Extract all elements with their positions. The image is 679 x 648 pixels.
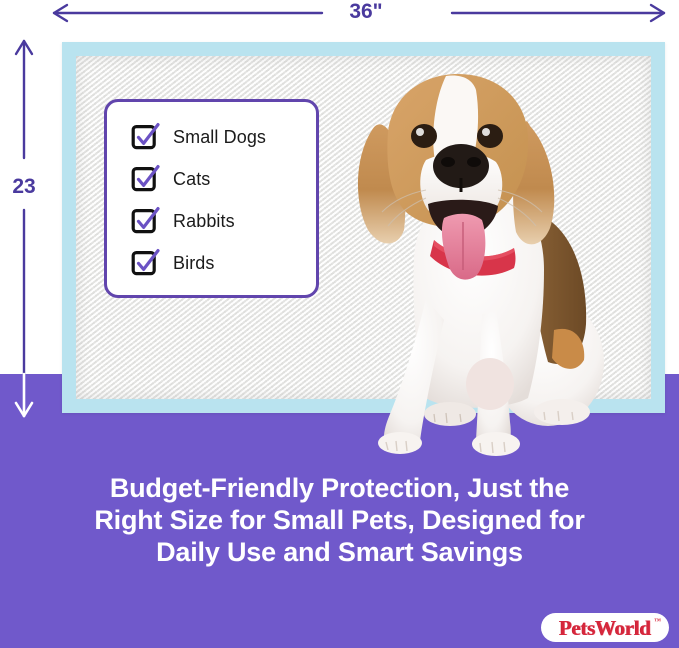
brand-logo: PetsWorld ™ (541, 613, 669, 642)
checkbox-checked-icon (131, 207, 159, 235)
height-dimension-label: 23 (2, 175, 46, 199)
checkbox-checked-icon (131, 165, 159, 193)
trademark-symbol: ™ (654, 617, 661, 625)
height-dimension-arrow (12, 38, 36, 420)
list-item: Small Dogs (131, 116, 316, 158)
headline-line-1: Budget-Friendly Protection, Just the (30, 472, 649, 504)
list-item: Rabbits (131, 200, 316, 242)
list-item: Cats (131, 158, 316, 200)
headline-line-2: Right Size for Small Pets, Designed for (30, 504, 649, 536)
checkbox-checked-icon (131, 123, 159, 151)
headline-line-3: Daily Use and Smart Savings (30, 536, 649, 568)
list-item: Birds (131, 242, 316, 284)
list-item-label: Birds (173, 253, 215, 274)
marketing-headline: Budget-Friendly Protection, Just the Rig… (30, 472, 649, 568)
beagle-dog-photo (330, 62, 620, 456)
width-dimension-label: 36" (331, 0, 401, 24)
list-item-label: Rabbits (173, 211, 235, 232)
list-item-label: Small Dogs (173, 127, 266, 148)
brand-logo-text: PetsWorld (559, 617, 651, 639)
checkbox-checked-icon (131, 249, 159, 277)
compatible-pets-checklist-card: Small Dogs Cats Rabbits (104, 99, 319, 298)
list-item-label: Cats (173, 169, 210, 190)
product-marketing-image: 36" 23 (0, 0, 679, 648)
